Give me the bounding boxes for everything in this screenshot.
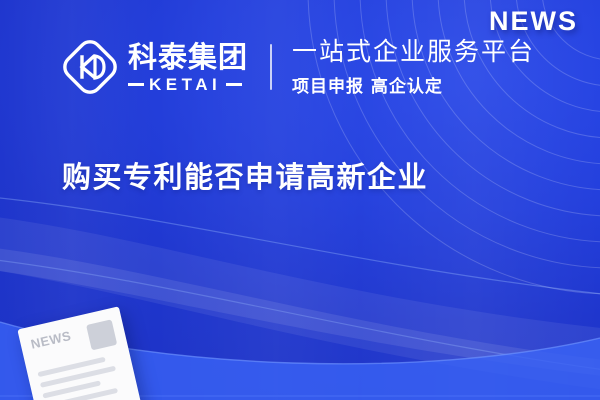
slogan-main: 一站式企业服务平台 [292, 38, 535, 67]
dash-right-icon [226, 83, 242, 86]
brand-name-cn: 科泰集团 [128, 40, 248, 74]
brand-header: 科泰集团 KETAI 一站式企业服务平台 项目申报 高企认定 [62, 38, 535, 97]
brand-logo[interactable]: 科泰集团 KETAI [62, 39, 248, 95]
headline-title: 购买专利能否申请高新企业 [62, 160, 428, 195]
slogan-block: 一站式企业服务平台 项目申报 高企认定 [292, 38, 535, 97]
header-divider [270, 44, 272, 90]
news-label: NEWS [489, 6, 578, 37]
brand-name-en: KETAI [149, 76, 221, 93]
news-banner: 科泰集团 KETAI 一站式企业服务平台 项目申报 高企认定 NEWS 购买专利… [0, 0, 600, 400]
ketai-diamond-monogram-icon [62, 39, 118, 95]
newspaper-text-lines [37, 353, 127, 400]
dash-left-icon [128, 83, 144, 86]
newspaper-masthead: NEWS [30, 329, 73, 351]
brand-name-en-row: KETAI [128, 76, 248, 93]
slogan-sub: 项目申报 高企认定 [292, 72, 535, 97]
newspaper-image-placeholder [86, 319, 117, 350]
